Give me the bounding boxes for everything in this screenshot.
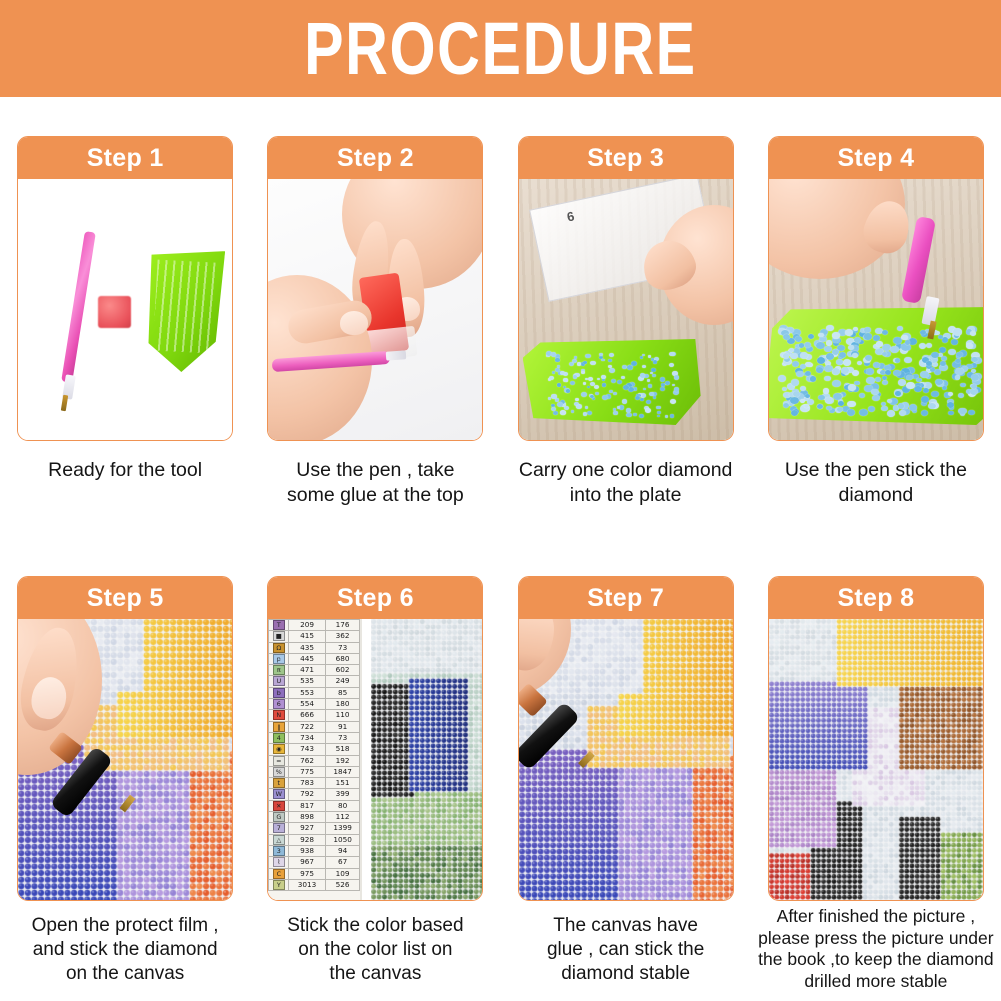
- pour-diamonds-photo: 6: [519, 179, 733, 440]
- step-3-card[interactable]: Step 3 6: [518, 136, 734, 441]
- dmc-code-cell: 927: [289, 823, 326, 834]
- diamond-bead: [581, 392, 587, 397]
- step-4-card[interactable]: Step 4: [768, 136, 984, 441]
- diamond-bead: [665, 381, 670, 385]
- diamond-bead: [626, 408, 631, 412]
- color-swatch-icon: ■: [273, 631, 285, 641]
- diamond-bead: [940, 361, 946, 366]
- diamond-bead: [653, 360, 657, 363]
- step-5-image: [18, 619, 232, 900]
- color-swatch-icon: t: [273, 778, 285, 788]
- step-8-header: Step 8: [769, 577, 983, 619]
- diamond-bead: [895, 391, 901, 396]
- diamond-tray-icon: [141, 247, 225, 374]
- dmc-code-cell: 792: [289, 789, 326, 800]
- dmc-code-cell: 722: [289, 721, 326, 732]
- step-3-header: Step 3: [519, 137, 733, 179]
- diamond-bead: [611, 379, 616, 383]
- count-cell: 110: [325, 710, 360, 721]
- diamond-bead: [824, 346, 831, 352]
- count-cell: 151: [325, 778, 360, 789]
- count-cell: 680: [325, 653, 360, 664]
- diamond-bead: [876, 341, 883, 347]
- diamond-bead: [832, 368, 841, 375]
- diamond-bead: [955, 375, 961, 380]
- color-swatch-icon: Y: [273, 880, 285, 890]
- diamond-bead: [790, 353, 797, 359]
- color-list-row: =762192: [269, 755, 360, 766]
- diamond-bead: [920, 371, 929, 378]
- diamond-bead: [839, 352, 846, 358]
- pick-diamond-photo: [769, 179, 983, 440]
- color-swatch-icon: U: [273, 676, 285, 686]
- color-swatch-icon: W: [273, 789, 285, 799]
- color-swatch-icon: △: [273, 835, 285, 845]
- count-cell: 85: [325, 687, 360, 698]
- color-list-table: T209176■415362Ω43573բ445680π471602U53524…: [268, 619, 360, 891]
- color-symbol-cell: N: [269, 710, 289, 721]
- color-symbol-cell: C: [269, 868, 289, 879]
- dmc-code-cell: 209: [289, 620, 326, 631]
- step-5-header: Step 5: [18, 577, 232, 619]
- diamond-bead: [824, 365, 832, 372]
- diamond-bead: [866, 368, 874, 375]
- dmc-code-cell: 734: [289, 732, 326, 743]
- step-2-image: [268, 179, 482, 440]
- diamond-bead: [864, 333, 872, 339]
- diamond-bead: [926, 343, 932, 348]
- diamond-bead: [847, 401, 855, 408]
- diamond-bead: [651, 368, 656, 372]
- diamond-bead: [560, 411, 566, 416]
- color-swatch-icon: =: [273, 756, 285, 766]
- diamond-bead: [955, 359, 961, 364]
- dmc-code-cell: 535: [289, 676, 326, 687]
- diamond-bead: [790, 397, 799, 404]
- diamond-bead: [674, 387, 680, 392]
- finished-painting-mosaic: [769, 619, 983, 900]
- diamond-bead: [832, 332, 840, 338]
- diamond-bead: [601, 375, 606, 379]
- count-cell: 518: [325, 744, 360, 755]
- color-list-row: U535249: [269, 676, 360, 687]
- color-list-row: 473473: [269, 732, 360, 743]
- color-list-table-panel[interactable]: T209176■415362Ω43573բ445680π471602U53524…: [268, 619, 362, 900]
- diamond-bead: [948, 411, 953, 415]
- diamond-bead: [622, 399, 628, 404]
- diamond-bead: [905, 340, 911, 345]
- diamond-bead: [656, 406, 660, 409]
- diamond-bead: [926, 361, 932, 366]
- diamond-bead: [608, 359, 612, 362]
- diamond-bead: [971, 374, 979, 380]
- diamond-bead: [872, 395, 880, 401]
- diamond-bead: [941, 356, 947, 361]
- diamond-bead: [958, 408, 966, 415]
- step-2-header: Step 2: [268, 137, 482, 179]
- diamond-bead: [633, 413, 636, 416]
- diamond-bead: [783, 403, 789, 408]
- step-3-caption: Carry one color diamond into the plate: [510, 458, 742, 508]
- diamond-bead: [623, 385, 629, 390]
- color-symbol-cell: ◉: [269, 744, 289, 755]
- color-list-row: C975109: [269, 868, 360, 879]
- diamond-bead: [942, 337, 948, 342]
- step-1-caption: Ready for the tool: [9, 458, 241, 483]
- diamond-bead: [609, 368, 615, 373]
- tool-kit-photo: [18, 179, 232, 440]
- dmc-code-cell: 666: [289, 710, 326, 721]
- diamond-bead: [669, 363, 674, 367]
- dmc-code-cell: 938: [289, 845, 326, 856]
- diamond-bead: [825, 397, 832, 403]
- dmc-code-cell: 553: [289, 687, 326, 698]
- step-5-card[interactable]: Step 5: [17, 576, 233, 901]
- count-cell: 602: [325, 665, 360, 676]
- step-5-caption: Open the protect film , and stick the di…: [9, 914, 241, 986]
- diamond-bead: [799, 343, 805, 348]
- diamond-bead: [573, 375, 577, 378]
- color-symbol-cell: T: [269, 620, 289, 631]
- count-cell: 80: [325, 800, 360, 811]
- step-card-1: Step 1 Ready for the tool: [0, 136, 250, 508]
- count-cell: 1050: [325, 834, 360, 845]
- step-card-4: Step 4 Use the pen stick the diamond: [751, 136, 1001, 508]
- color-list-body: T209176■415362Ω43573բ445680π471602U53524…: [269, 620, 360, 891]
- color-symbol-cell: 7: [269, 823, 289, 834]
- diamond-bead: [804, 342, 811, 348]
- drill-pen-icon: [61, 231, 96, 383]
- step-8-caption: After finished the picture , please pres…: [753, 906, 999, 992]
- color-list-row: △9281050: [269, 834, 360, 845]
- mosaic-canvas: [371, 619, 482, 900]
- diamond-bead: [792, 361, 800, 367]
- step-card-2: Step 2 Use the pen , take s: [250, 136, 500, 508]
- diamond-bead: [898, 403, 905, 408]
- color-symbol-cell: G: [269, 812, 289, 823]
- color-swatch-icon: 6: [273, 699, 285, 709]
- dmc-code-cell: 554: [289, 699, 326, 710]
- diamond-bead: [670, 399, 676, 404]
- step-6-header: Step 6: [268, 577, 482, 619]
- step-1-header: Step 1: [18, 137, 232, 179]
- color-list-row: G898112: [269, 812, 360, 823]
- diamond-bead: [887, 410, 895, 417]
- color-list-row: T209176: [269, 620, 360, 631]
- diamond-bead: [551, 407, 556, 411]
- glue-pickup-photo: [268, 179, 482, 440]
- diamond-bead: [897, 326, 903, 331]
- step-1-card[interactable]: Step 1: [17, 136, 233, 441]
- color-symbol-cell: W: [269, 789, 289, 800]
- diamond-bead: [783, 334, 790, 340]
- color-swatch-icon: %: [273, 767, 285, 777]
- color-symbol-cell: 3: [269, 845, 289, 856]
- diamond-bead: [826, 340, 833, 345]
- diamond-bead: [833, 393, 842, 400]
- color-symbol-cell: Y: [269, 879, 289, 890]
- step-4-header: Step 4: [769, 137, 983, 179]
- color-symbol-cell: b: [269, 687, 289, 698]
- diamond-bead: [804, 404, 809, 408]
- color-symbol-cell: ‖: [269, 721, 289, 732]
- color-list-row: b55385: [269, 687, 360, 698]
- step-card-7: Step 7 The canvas have glue , can stick …: [501, 576, 751, 992]
- diamond-bead: [622, 365, 627, 369]
- count-cell: 91: [325, 721, 360, 732]
- diamond-bead: [901, 335, 907, 340]
- diamond-bead: [895, 358, 900, 362]
- diamond-bead: [585, 406, 588, 409]
- color-list-row: t783151: [269, 778, 360, 789]
- color-symbol-cell: Ω: [269, 642, 289, 653]
- count-cell: 192: [325, 755, 360, 766]
- diamond-bead: [552, 371, 555, 374]
- diamond-bead: [563, 386, 566, 389]
- diamond-bead: [783, 353, 790, 359]
- diamond-bead: [628, 387, 634, 392]
- diamond-bead: [800, 352, 808, 359]
- color-swatch-icon: Ω: [273, 643, 285, 653]
- color-list-row: ✕81780: [269, 800, 360, 811]
- table-canvas-gap: [362, 619, 371, 900]
- diamond-bead: [789, 348, 794, 352]
- step-1-image: [18, 179, 232, 440]
- diamond-bead: [563, 378, 567, 382]
- dmc-code-cell: 471: [289, 665, 326, 676]
- diamond-bead: [898, 379, 906, 386]
- diamond-bead: [923, 388, 929, 393]
- count-cell: 73: [325, 732, 360, 743]
- color-swatch-icon: ✕: [273, 801, 285, 811]
- color-list-row: 79271399: [269, 823, 360, 834]
- diamond-bead: [885, 370, 891, 375]
- diamond-bead: [873, 335, 880, 340]
- diamond-bead: [657, 411, 661, 414]
- diamond-bead: [906, 382, 914, 389]
- dmc-code-cell: 445: [289, 653, 326, 664]
- diamond-bead: [960, 383, 965, 387]
- diamond-bead: [795, 336, 802, 342]
- color-list-row: N666110: [269, 710, 360, 721]
- diamond-bead: [953, 328, 962, 335]
- diamond-bead: [810, 376, 816, 381]
- diamond-bead: [970, 388, 978, 395]
- diamond-bead: [909, 404, 917, 411]
- diamond-bead: [778, 375, 786, 381]
- dmc-code-cell: 817: [289, 800, 326, 811]
- dmc-code-cell: 975: [289, 868, 326, 879]
- color-list-row: բ445680: [269, 653, 360, 664]
- step-card-3: Step 3 6 Carry one color diamond into th…: [501, 136, 751, 508]
- color-swatch-icon: G: [273, 812, 285, 822]
- diamond-bead: [928, 403, 936, 409]
- diamond-bead: [970, 331, 976, 336]
- color-swatch-icon: ◉: [273, 744, 285, 754]
- diamond-bead: [577, 362, 581, 365]
- color-swatch-icon: ‖: [273, 722, 285, 732]
- step-6-image: T209176■415362Ω43573բ445680π471602U53524…: [268, 619, 482, 900]
- diamond-bead: [670, 414, 674, 418]
- diamond-bead: [942, 386, 947, 390]
- color-swatch-icon: π: [273, 665, 285, 675]
- diamond-bead: [651, 358, 654, 361]
- diamond-bead: [627, 365, 633, 370]
- dmc-code-cell: 928: [289, 834, 326, 845]
- diamond-bead: [824, 376, 830, 381]
- color-list-row: ‖72291: [269, 721, 360, 732]
- color-symbol-cell: π: [269, 665, 289, 676]
- step-card-5: Step 5 Open the protect film , and stick…: [0, 576, 250, 992]
- diamond-bead: [621, 376, 625, 379]
- step-6-card[interactable]: Step 6 T209176■415362Ω43573բ445680π47160…: [267, 576, 483, 901]
- diamond-bead: [617, 406, 620, 409]
- diamond-bead: [826, 406, 831, 410]
- count-cell: 67: [325, 857, 360, 868]
- diamond-bead: [557, 402, 563, 407]
- steps-row-2: Step 5 Open the protect film , and stick…: [0, 576, 1001, 992]
- diamond-bead: [865, 355, 872, 361]
- steps-row-1: Step 1 Ready for the tool Step 2: [0, 136, 1001, 508]
- diamond-bead: [631, 361, 637, 366]
- diamond-bead: [648, 384, 653, 388]
- diamond-bead: [551, 394, 556, 398]
- color-symbol-cell: U: [269, 676, 289, 687]
- diamond-bead: [590, 395, 594, 398]
- glue-square-icon: [98, 296, 131, 328]
- count-cell: 112: [325, 812, 360, 823]
- color-list-row: ■415362: [269, 631, 360, 642]
- color-list-row: %7751847: [269, 766, 360, 777]
- count-cell: 526: [325, 879, 360, 890]
- color-list-row: Y3013526: [269, 879, 360, 890]
- count-cell: 399: [325, 789, 360, 800]
- diamond-bead: [893, 337, 901, 344]
- diamond-bead: [916, 378, 921, 383]
- step-3-image: 6: [519, 179, 733, 440]
- color-symbol-cell: t: [269, 778, 289, 789]
- color-swatch-icon: b: [273, 688, 285, 698]
- diamond-bead: [602, 395, 608, 400]
- dmc-code-cell: 775: [289, 766, 326, 777]
- pen-nib-icon: [386, 350, 407, 360]
- diamond-bead: [791, 410, 798, 416]
- diamond-bead: [951, 339, 958, 344]
- dmc-code-cell: 743: [289, 744, 326, 755]
- diamond-bead: [583, 382, 587, 385]
- diamond-bead: [665, 415, 669, 418]
- color-swatch-icon: բ: [273, 654, 285, 664]
- dmc-code-cell: 3013: [289, 879, 326, 890]
- diamond-bead: [920, 330, 926, 335]
- color-list-row: W792399: [269, 789, 360, 800]
- count-cell: 94: [325, 845, 360, 856]
- diamond-bead: [793, 391, 800, 397]
- diamond-bead: [642, 365, 646, 368]
- dmc-code-cell: 783: [289, 778, 326, 789]
- step-card-6: Step 6 T209176■415362Ω43573բ445680π47160…: [250, 576, 500, 992]
- diamond-bead: [791, 379, 799, 385]
- mosaic-canvas: [769, 619, 983, 900]
- color-swatch-icon: 7: [273, 823, 285, 833]
- page-title: PROCEDURE: [304, 12, 697, 86]
- diamond-bead: [882, 352, 887, 356]
- diamond-bead: [826, 353, 834, 360]
- diamond-bead: [800, 364, 806, 369]
- fingernail-icon: [340, 311, 368, 335]
- color-list-row: ◉743518: [269, 744, 360, 755]
- diamond-bead: [882, 344, 890, 351]
- color-symbol-cell: 6: [269, 699, 289, 710]
- step-7-header: Step 7: [519, 577, 733, 619]
- count-cell: 249: [325, 676, 360, 687]
- step-6-caption: Stick the color based on the color list …: [259, 914, 491, 986]
- diamond-bead: [823, 388, 830, 394]
- color-list-row: 393894: [269, 845, 360, 856]
- color-list-and-canvas: T209176■415362Ω43573բ445680π471602U53524…: [268, 619, 482, 900]
- color-list-row: π471602: [269, 665, 360, 676]
- step-8-image: [769, 619, 983, 900]
- count-cell: 1847: [325, 766, 360, 777]
- color-swatch-icon: T: [273, 620, 285, 630]
- dmc-code-cell: 762: [289, 755, 326, 766]
- page-banner: PROCEDURE: [0, 0, 1001, 97]
- color-symbol-cell: 4: [269, 732, 289, 743]
- color-symbol-cell: ■: [269, 631, 289, 642]
- diamond-bead: [836, 359, 843, 365]
- diamond-bead: [906, 375, 912, 380]
- diamond-bead: [948, 349, 955, 355]
- diamond-bead: [640, 373, 645, 377]
- diamond-bead: [864, 327, 871, 332]
- step-7-caption: The canvas have glue , can stick the dia…: [510, 914, 742, 986]
- step-8-card[interactable]: Step 8: [768, 576, 984, 901]
- dmc-code-cell: 898: [289, 812, 326, 823]
- diamond-bead: [551, 352, 556, 356]
- diamond-bead: [816, 367, 822, 372]
- diamond-bead: [931, 352, 938, 358]
- color-swatch-icon: N: [273, 710, 285, 720]
- step-2-card[interactable]: Step 2: [267, 136, 483, 441]
- color-list-row: 6554180: [269, 699, 360, 710]
- color-symbol-cell: %: [269, 766, 289, 777]
- color-symbol-cell: բ: [269, 653, 289, 664]
- dmc-code-cell: 415: [289, 631, 326, 642]
- dmc-code-cell: 967: [289, 857, 326, 868]
- pen-nib-icon: [61, 395, 68, 412]
- diamond-bead: [571, 410, 575, 413]
- step-7-card[interactable]: Step 7: [518, 576, 734, 901]
- diamond-bead: [647, 379, 651, 382]
- color-swatch-icon: ⌇: [273, 857, 285, 867]
- color-symbol-cell: ⌇: [269, 857, 289, 868]
- diamond-bead: [674, 375, 680, 380]
- step-card-8: Step 8 After finished the picture , plea…: [751, 576, 1001, 992]
- diamond-bead: [956, 352, 963, 357]
- step-4-image: [769, 179, 983, 440]
- diamond-bead: [968, 410, 975, 416]
- dmc-code-cell: 435: [289, 642, 326, 653]
- diamond-bead: [555, 358, 559, 362]
- count-cell: 180: [325, 699, 360, 710]
- canvas-mosaic: [371, 619, 482, 900]
- color-swatch-icon: 4: [273, 733, 285, 743]
- step-7-image: [519, 619, 733, 900]
- diamond-bead: [800, 386, 806, 391]
- color-list-row: ⌇96767: [269, 857, 360, 868]
- count-cell: 73: [325, 642, 360, 653]
- diamond-bead: [583, 361, 586, 364]
